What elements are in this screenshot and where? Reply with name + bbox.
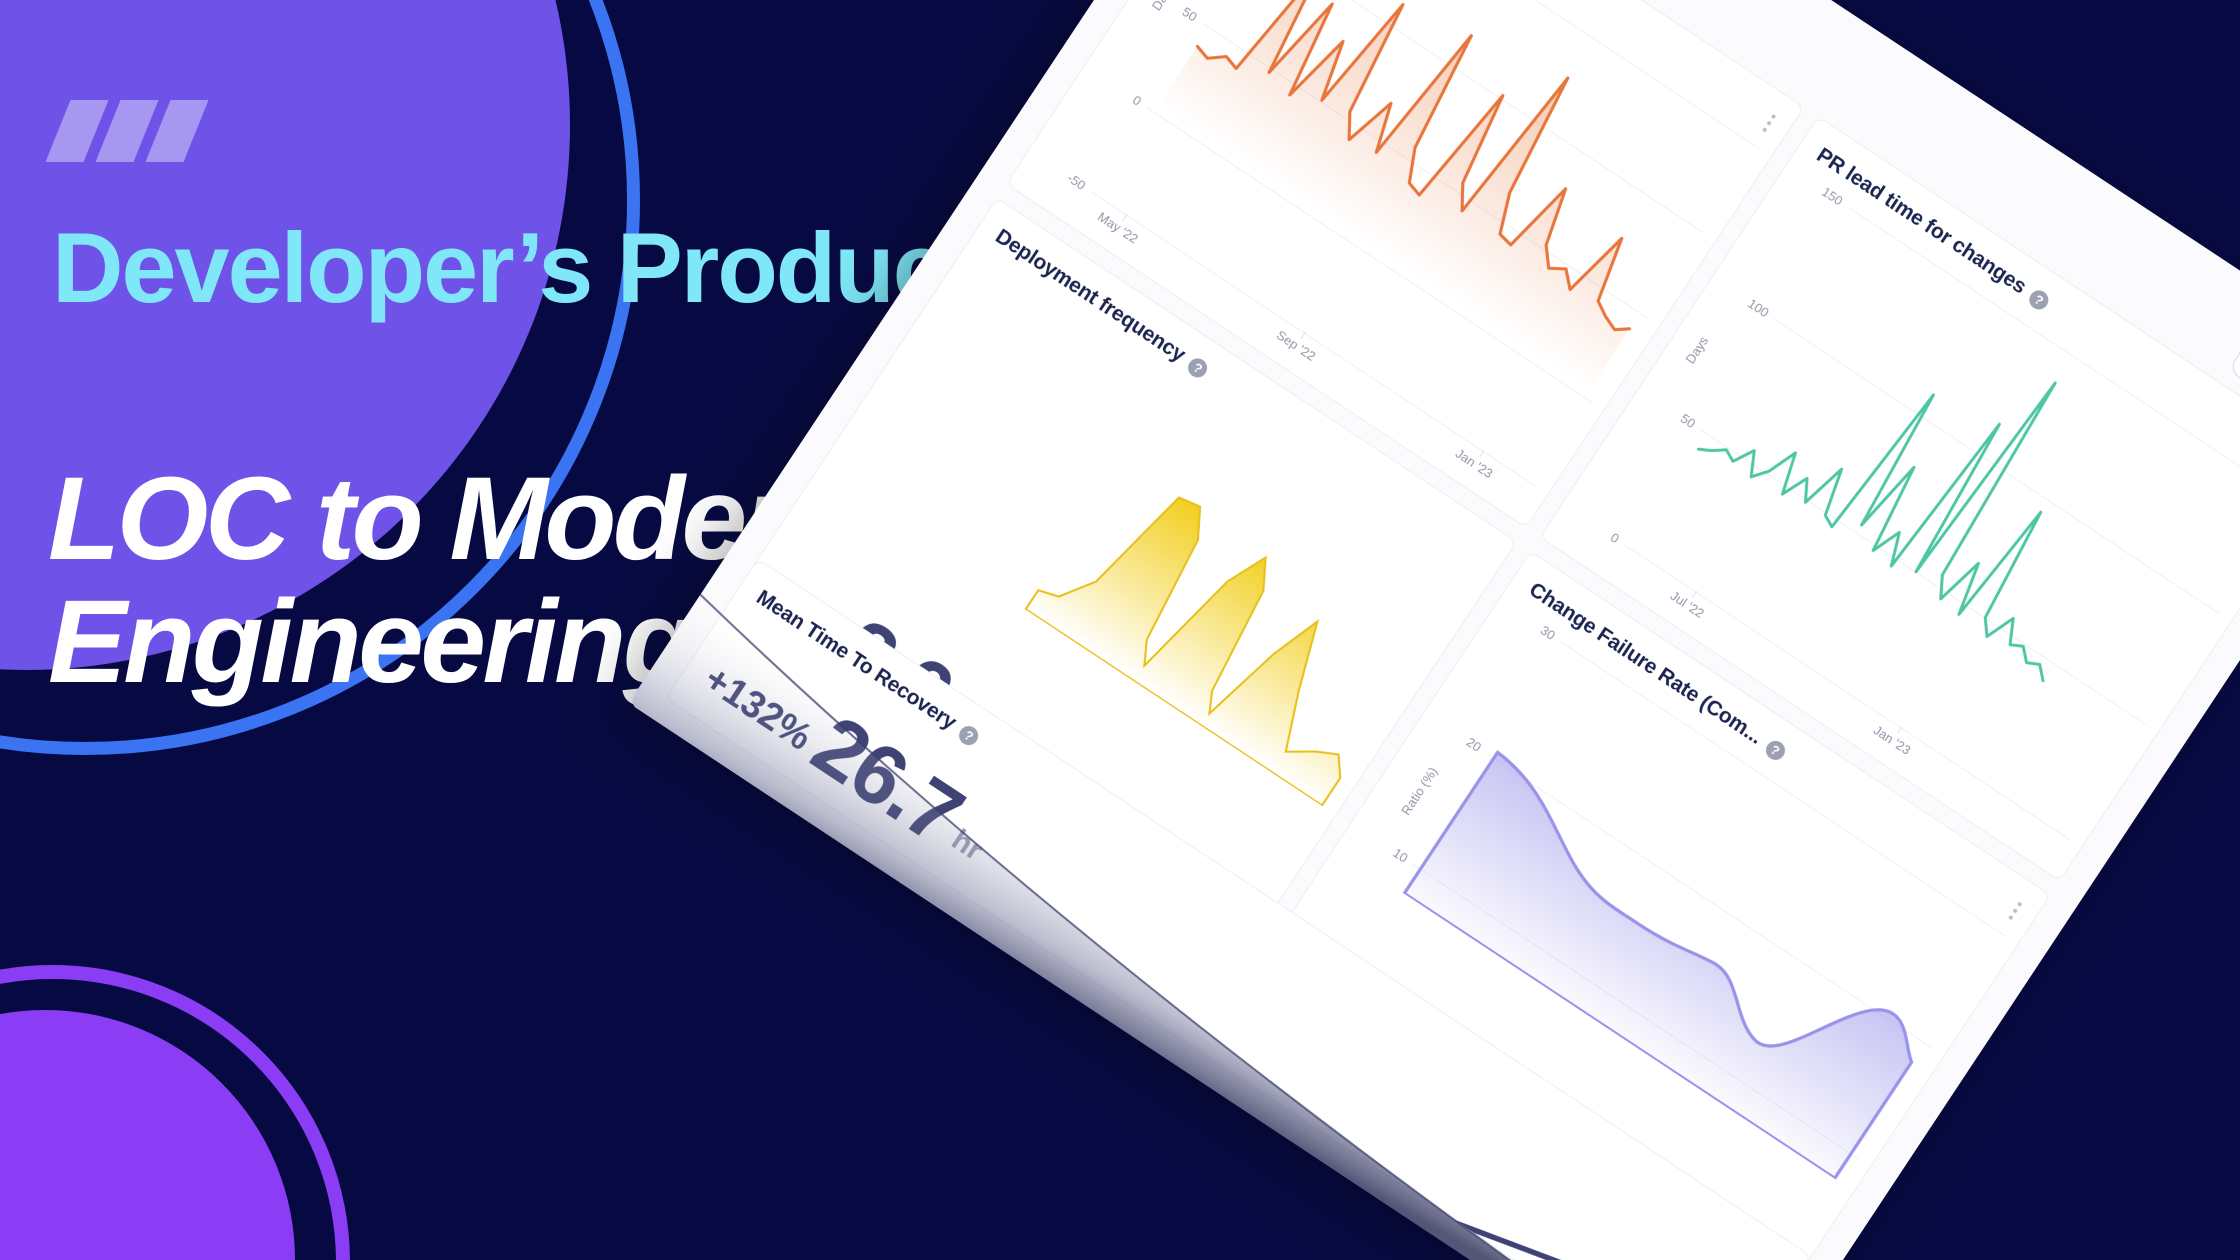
slide-canvas: Developer’s Productivity LOC to Modern E…: [0, 0, 2240, 1260]
y-tick: 0: [1130, 92, 1144, 109]
help-icon[interactable]: ?: [1762, 737, 1788, 763]
dashboard-background: DORA metrics Take a glance at your DevOp…: [629, 0, 2240, 1260]
y-tick: 30: [1538, 622, 1558, 642]
y-tick: -50: [1064, 170, 1088, 193]
y-tick: 150: [1819, 184, 1845, 208]
y-tick: 10: [1390, 845, 1410, 865]
dashboard-card-surface: DORA metrics Take a glance at your DevOp…: [629, 0, 2240, 1260]
logo-bar-3: [145, 100, 208, 162]
stat-delta: +132%: [698, 659, 819, 757]
y-tick: 100: [1745, 295, 1771, 319]
dashboard-card: DORA metrics Take a glance at your DevOp…: [629, 0, 2240, 1260]
stat-unit: hr: [945, 823, 989, 868]
help-icon[interactable]: ?: [2026, 286, 2052, 312]
y-tick: 20: [1464, 734, 1484, 754]
three-bars-logo: [50, 100, 220, 162]
help-icon[interactable]: ?: [956, 722, 982, 748]
y-axis-label: Ratio (%): [1398, 764, 1440, 817]
y-tick: 50: [1180, 4, 1200, 24]
y-axis-label: Days: [1149, 0, 1178, 13]
y-tick: 50: [1678, 411, 1698, 431]
y-tick: 0: [1608, 530, 1622, 547]
y-axis-label: Days: [1683, 333, 1712, 366]
help-icon[interactable]: ?: [1185, 355, 1211, 381]
